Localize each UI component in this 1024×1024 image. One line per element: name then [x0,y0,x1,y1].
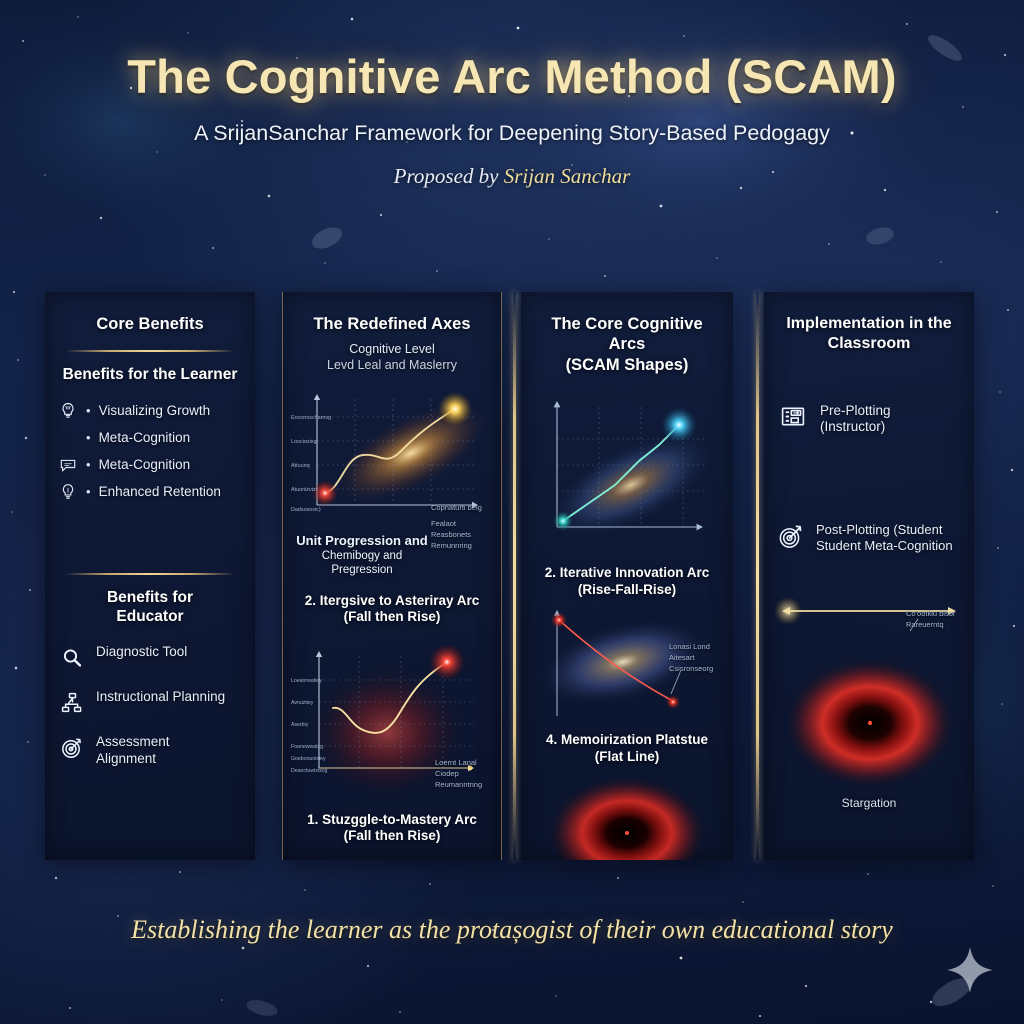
x-axis-title-upper: Unit Progression and Chemibogy and Pregr… [289,531,435,579]
gold-divider [65,350,235,352]
chart-side-note-upper: Copnaturti belg Fealaot Reasbonets Remun… [431,503,493,552]
blackhole-svg [527,775,727,860]
list-item-label-line2: (Instructor) [820,419,891,436]
x-axis-title-upper-line1: Unit Progression and [293,533,431,549]
y-axis-title-upper-line1: Cognitive Level [287,342,497,357]
list-item[interactable]: Instructional Planning [45,680,255,725]
page-subtitle: A SrijanSanchar Framework for Deepening … [0,121,1024,146]
bullet-dot: • [86,430,91,445]
panel-core-cognitive-arcs: The Core Cognitive Arcs (SCAM Shapes) [521,292,733,860]
y-tick-label: Eoconoschanrvg [291,415,331,421]
y-tick-label: Foanewwatxg [291,744,323,750]
sparkle-icon [945,945,995,995]
chart-redefined-axes-upper: Eoconoschanrvg Loociozixg Attuunq Atuonl… [289,381,495,531]
educator-benefit-list: Diagnostic Tool Instructional Planning [45,635,255,776]
list-item-label-line1: Assessment [96,734,170,751]
implementation-item-list: Pre-Plotting (Instructor) Post-P [764,394,974,564]
blackhole-stagnation: Stargation [770,657,968,807]
section-heading-educator-line1: Benefits for [45,589,255,608]
panel-title-implementation: Implementation in the Classroom [764,292,974,354]
list-item-label: Meta-Cognition [99,430,191,446]
y-tick-label: Dadsoxoxic) [291,507,321,513]
annotation-line: Co'ootkiu bisor [906,609,964,620]
panel-title-line1: Implementation in the [776,314,962,334]
list-item[interactable]: Pre-Plotting (Instructor) [764,394,974,445]
speech-bubble-icon [57,454,79,476]
bullet-dot: • [86,403,91,418]
panel-title-core-benefits: Core Benefits [45,292,255,334]
y-tick-label: Avruiztiey [291,700,314,706]
chart-caption-line1: 2. Itergsive to Asteriray Arc [289,593,495,609]
chart-caption-struggle-footer: 1. Stuzggle-to-Mastery Arc (Fall then Ri… [283,808,501,849]
section-heading-educator: Benefits for Educator [45,589,255,627]
gold-divider [65,573,235,575]
proposed-by-prefix: Proposed by [394,164,504,188]
checklist-board-icon [780,404,806,430]
panel-divider-vertical [756,292,759,860]
chart-annotation-stagnation: Co'ootkiu bisor Rareuerntq [906,609,964,631]
list-item-label-line1: Pre-Plotting [820,403,891,420]
chart-caption-line1: 1. Stuzggle-to-Mastery Arc [289,812,495,828]
list-item[interactable]: • Meta-Cognition [45,424,255,451]
section-spacer [45,505,255,557]
annotation-line: Lonasi Lond [669,642,725,653]
side-note-line: Fealaot [431,519,493,530]
chart-caption-line2: (Fall then Rise) [289,828,495,844]
list-item[interactable]: Diagnostic Tool [45,635,255,680]
chart-svg [527,379,727,561]
list-item[interactable]: • Enhanced Retention [45,478,255,505]
y-axis-title-upper-line2: Levd Leal and Maslerry [287,358,497,373]
list-item-label: Meta-Cognition [99,457,191,473]
y-tick-label: Deaoctuwixtxcg [291,768,327,774]
panel-core-benefits: Core Benefits Benefits for the Learner •… [45,292,255,860]
panel-redefined-axes: The Redefined Axes Cognitive Level Levd … [282,292,502,860]
blackhole-svg [770,657,970,807]
chart-struggle-to-mastery: Loeanrwatiey Avruiztiey Aserbiy Foanewwa… [289,636,495,804]
list-item-label: Post-Plotting (Student Student Meta-Cogn… [816,522,953,554]
bullet-dot: • [86,484,91,499]
list-item-label: Diagnostic Tool [96,644,187,661]
chart-annotation-descending: Lonasi Lond Aitesart Csisronseorg [669,642,725,675]
chart-caption-struggle-upper: 2. Itergsive to Asteriray Arc (Fall then… [283,589,501,630]
chart-caption-line2: (Flat Line) [527,749,727,765]
panel-divider-vertical [513,292,516,860]
panel-title-line2: Classroom [776,334,962,354]
y-tick-label: Loeanrwatiey [291,678,322,684]
panel-title-core-cognitive-arcs: The Core Cognitive Arcs (SCAM Shapes) [521,292,733,375]
page-title: The Cognitive Arc Method (SCAM) [0,52,1024,103]
list-item-label: Assessment Alignment [96,734,170,767]
item-spacer [764,445,974,513]
learner-benefit-list: • Visualizing Growth • Meta-Cognition [45,397,255,505]
side-note-line: Ciodep [435,769,491,780]
side-note-line: Reumanntnng [435,780,491,791]
poster-header: The Cognitive Arc Method (SCAM) A Srijan… [0,52,1024,189]
magnifier-icon [59,645,85,671]
blank-icon-slot [57,427,79,449]
list-item[interactable]: Post-Plotting (Student Student Meta-Cogn… [764,513,974,563]
panel-implementation: Implementation in the Classroom [764,292,974,860]
chart-caption-line2: (Fall then Rise) [289,609,495,625]
chart-caption-line1: 4. Memoirization Platstue [527,732,727,748]
target-arrow-icon [59,735,85,761]
side-note-line: Reasbonets [431,530,493,541]
section-heading-educator-line2: Educator [45,608,255,627]
chart-caption-memorization-plateau: 4. Memoirization Platstue (Flat Line) [521,728,733,769]
panel-title-line1: The Core Cognitive Arcs [533,314,721,355]
side-note-line: Loernt Lanal [435,758,491,769]
proposed-by-name: Srijan Sanchar [504,164,631,188]
list-item-label-line1: Post-Plotting (Student [816,522,953,538]
annotation-line: Rareuerntq [906,620,964,631]
panel-strip: Core Benefits Benefits for the Learner •… [0,292,1024,860]
y-tick-label: Aserbiy [291,722,309,728]
list-item-label: Instructional Planning [96,689,225,706]
y-tick-label: Atuonlzvtzf [291,487,318,493]
side-note-line: Remunnring [431,541,493,552]
blackhole-stagnation: Stargation [527,775,727,860]
list-item-label-line2: Alignment [96,751,170,768]
y-tick-label: Loociozixg [291,439,316,445]
list-item-label-line2: Student Meta-Cognition [816,538,953,554]
footer-tagline: Establishing the learner as the protașog… [0,915,1024,945]
list-item[interactable]: • Meta-Cognition [45,451,255,478]
org-chart-icon [59,690,85,716]
lightbulb-icon [57,481,79,503]
list-item[interactable]: • Visualizing Growth [45,397,255,424]
list-item[interactable]: Assessment Alignment [45,725,255,776]
poster-canvas: The Cognitive Arc Method (SCAM) A Srijan… [0,0,1024,1024]
annotation-line: Csisronseorg [669,664,725,675]
list-item-label: Pre-Plotting (Instructor) [820,403,891,436]
chart-caption-line1: 2. Iterative Innovation Arc [527,565,727,581]
side-note-line: Copnaturti belg [431,503,493,514]
chart-caption-iterative-innovation: 2. Iterative Innovation Arc (Rise-Fall-R… [521,561,733,602]
panel-title-redefined-axes: The Redefined Axes [283,292,501,334]
chart-stagnation-flatline: Co'ootkiu bisor Rareuerntq [770,589,968,651]
annotation-line: Aitesart [669,653,725,664]
chart-side-note-lower: Loernt Lanal Ciodep Reumanntnng [435,758,491,791]
proposed-by: Proposed by Srijan Sanchar [0,164,1024,189]
panel-title-line2: (SCAM Shapes) [533,355,721,375]
x-axis-title-upper-line2: Chemibogy and Pregression [293,549,431,577]
y-axis-title-upper: Cognitive Level Levd Leal and Maslerry [283,340,501,375]
y-tick-label: Goebonunixiey [291,756,326,762]
chart-descending-arc: Lonasi Lond Aitesart Csisronseorg [527,608,727,726]
y-tick-label: Attuunq [291,463,310,469]
bullet-dot: • [86,457,91,472]
chart-rise-arc [527,379,727,561]
section-heading-learner: Benefits for the Learner [45,366,255,385]
list-item-label: Enhanced Retention [99,484,221,500]
target-arrow-icon [778,523,804,549]
chart-caption-line2: (Rise-Fall-Rise) [527,582,727,598]
list-item-label: Visualizing Growth [99,403,211,419]
brain-bulb-icon [57,400,79,422]
